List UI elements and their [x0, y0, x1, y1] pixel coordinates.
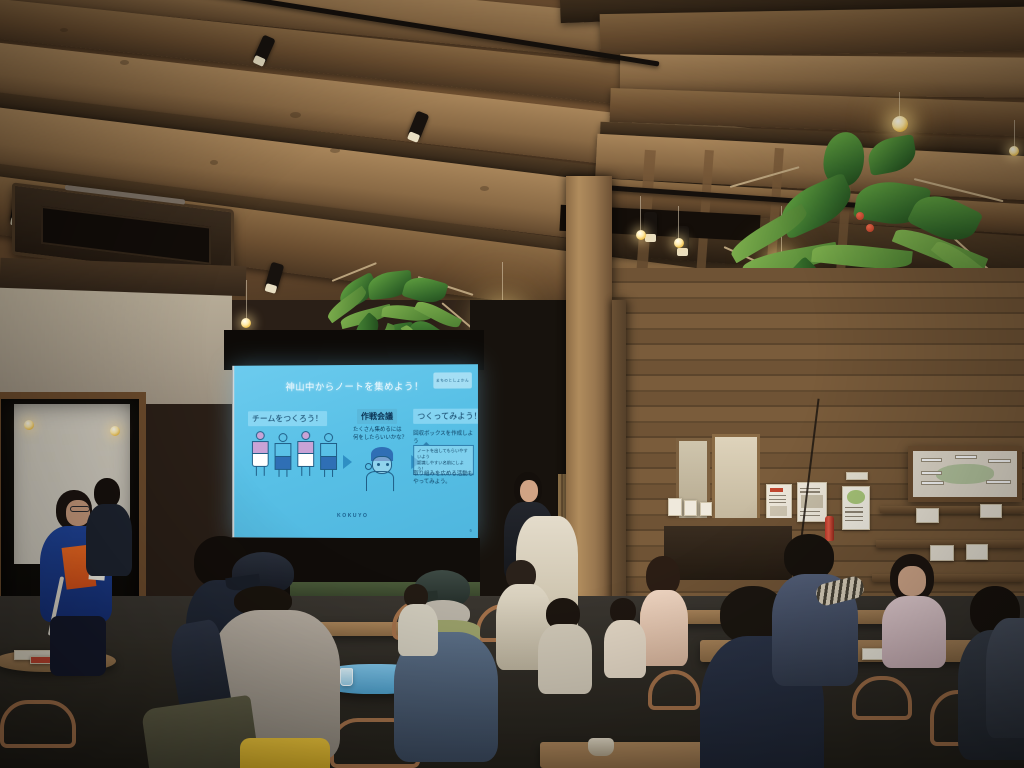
- leaflet-stand: [684, 500, 697, 516]
- wooden-chair[interactable]: [852, 676, 912, 720]
- shoji-panel: [712, 434, 760, 522]
- notice-poster-green: [842, 486, 870, 530]
- illustrated-map-board: [908, 446, 1022, 502]
- plant-berry: [856, 212, 864, 220]
- yellow-garment: [240, 738, 330, 768]
- shelf-card: [966, 544, 988, 560]
- event-poster-center: [797, 482, 827, 522]
- leaflet-stand: [668, 498, 682, 516]
- slide-page-number: 6: [470, 528, 472, 533]
- ac-vent: [41, 206, 211, 265]
- slide-body-3b: 取り組みを広める活動も やってみよう。: [413, 471, 476, 487]
- ceramic-cup: [588, 738, 614, 756]
- wall-shelf: [880, 506, 1024, 513]
- pendant-bulb: [674, 238, 684, 248]
- face: [898, 566, 926, 596]
- pendant-bulb: [636, 230, 646, 240]
- shelf-card: [916, 508, 939, 523]
- structural-post-right: [612, 300, 626, 620]
- pendant-bulb: [241, 318, 251, 328]
- photo-scene: 神山中からノートを集めよう！ まちのとしょかん チームをつくろう！: [0, 0, 1024, 768]
- slide-arrow-1: [343, 455, 352, 469]
- cabinet-counter: [660, 518, 796, 526]
- presentation-slide: 神山中からノートを集めよう！ まちのとしょかん チームをつくろう！: [234, 364, 478, 539]
- event-poster-left: [766, 484, 792, 522]
- plant-berry: [866, 224, 874, 232]
- shelf-card: [980, 504, 1002, 518]
- slide-heading-3: つくってみよう！: [413, 409, 478, 424]
- wooden-chair[interactable]: [0, 700, 76, 748]
- water-glass: [340, 668, 353, 686]
- slide-logo: まちのとしょかん: [433, 372, 472, 388]
- glasses: [70, 506, 90, 512]
- slide-heading-2: 作戦会議: [357, 409, 397, 424]
- torso: [882, 596, 946, 668]
- legs: [50, 616, 106, 676]
- kokuyo-logo: KOKUYO: [337, 513, 368, 519]
- fire-extinguisher: [825, 516, 834, 541]
- slide-body-2: たくさん集めるには 何をしたらいいかな？: [353, 427, 415, 443]
- slide-heading-1: チームをつくろう！: [248, 411, 327, 426]
- torso: [640, 590, 688, 666]
- face: [520, 480, 538, 502]
- projection-screen: 神山中からノートを集めよう！ まちのとしょかん チームをつくろう！: [232, 364, 478, 539]
- shelf-card: [930, 545, 954, 561]
- cabinet-dark: [664, 524, 792, 580]
- leaflet-stand: [700, 502, 712, 516]
- wall-upper-left: [0, 284, 232, 404]
- wall-sign: [846, 472, 868, 480]
- slide-title: 神山中からノートを集めよう！: [285, 379, 423, 394]
